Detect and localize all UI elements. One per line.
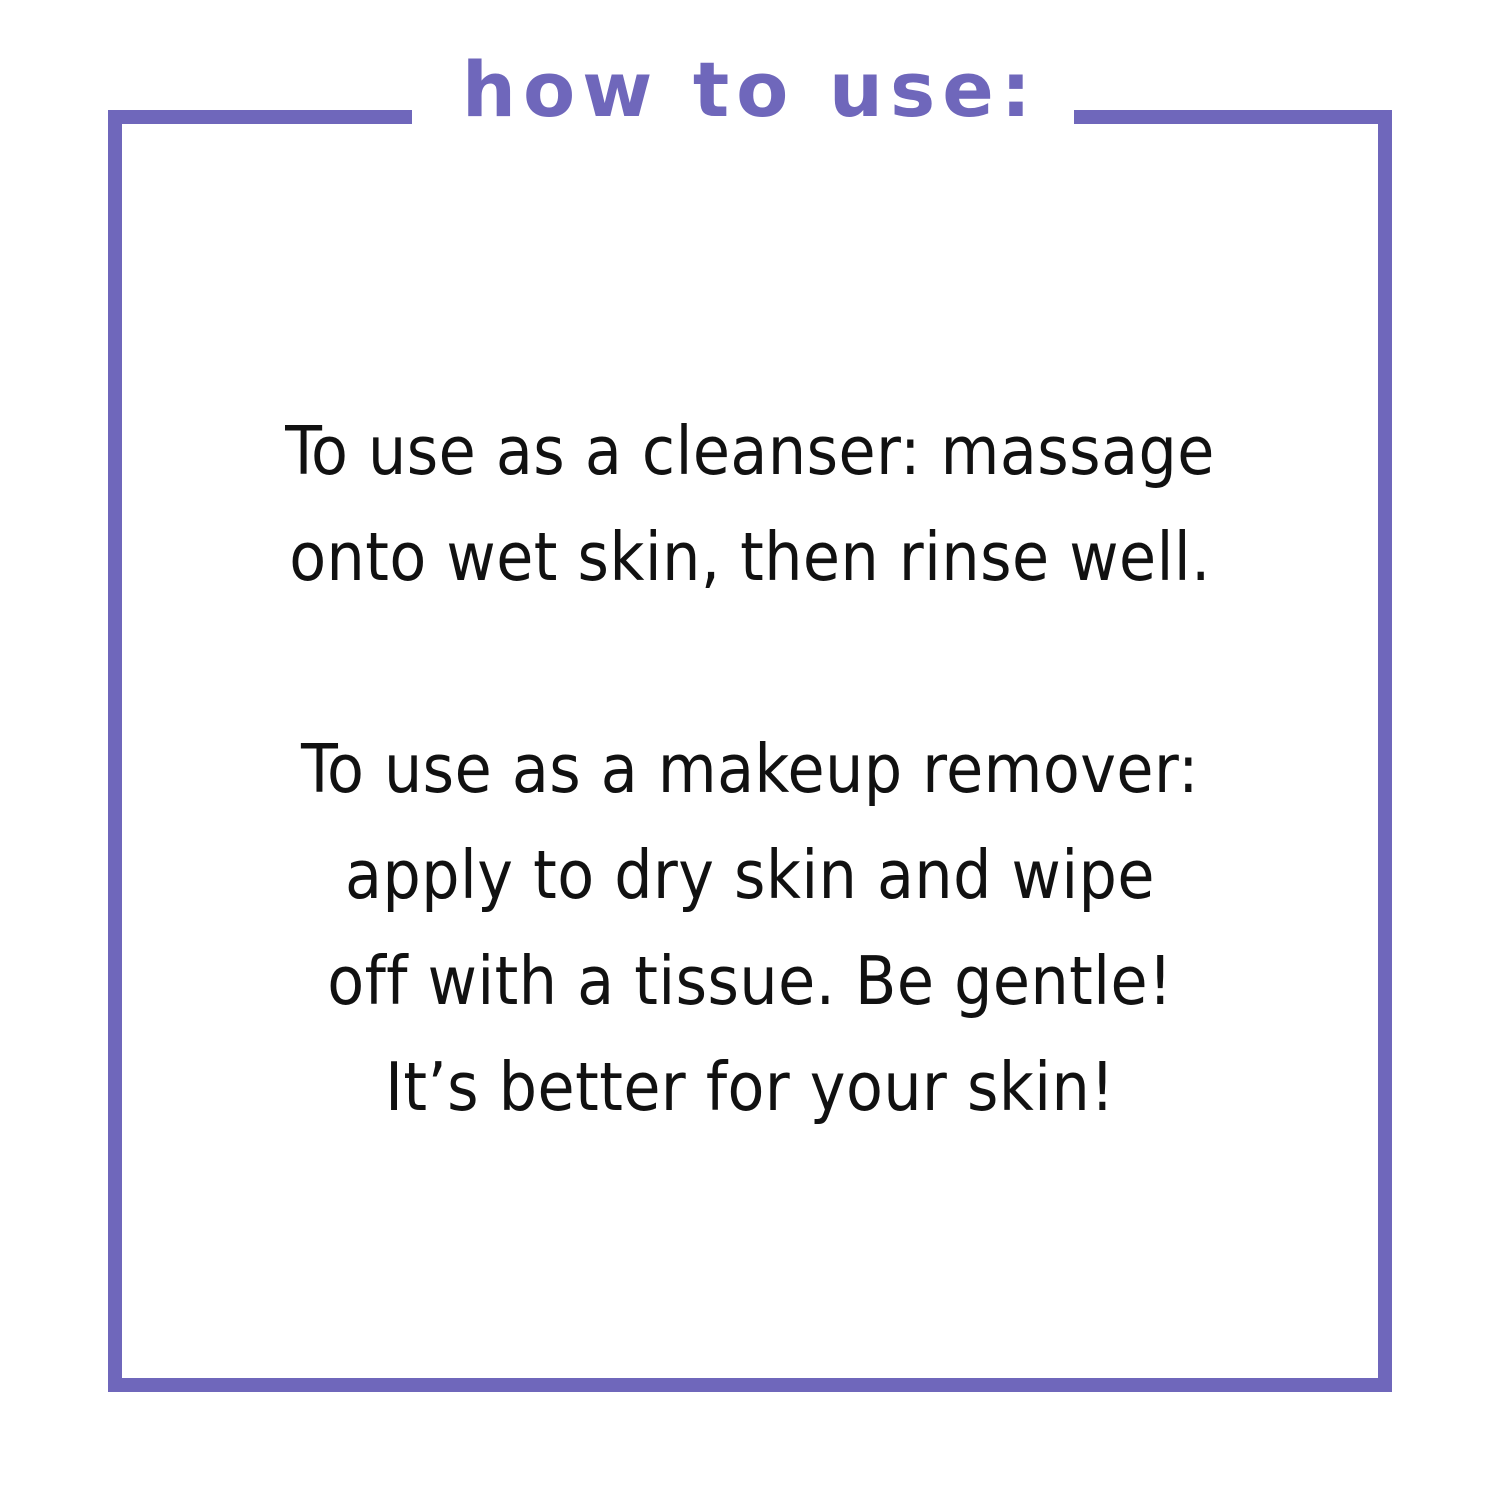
frame-right-rule (1378, 110, 1392, 1392)
instruction-line: apply to dry skin and wipe (180, 822, 1320, 928)
instruction-paragraph-cleanser: To use as a cleanser: massage onto wet s… (180, 398, 1320, 610)
instruction-line: It’s better for your skin! (180, 1034, 1320, 1140)
frame-bottom-rule (108, 1378, 1392, 1392)
page-title: how to use: (0, 52, 1500, 128)
instruction-line: onto wet skin, then rinse well. (180, 504, 1320, 610)
instruction-line: To use as a makeup remover: (180, 716, 1320, 822)
how-to-use-card: how to use: To use as a cleanser: massag… (0, 0, 1500, 1500)
instruction-line: off with a tissue. Be gentle! (180, 928, 1320, 1034)
frame-left-rule (108, 110, 122, 1392)
instructions-body: To use as a cleanser: massage onto wet s… (180, 398, 1320, 1140)
instruction-paragraph-makeup-remover: To use as a makeup remover: apply to dry… (180, 716, 1320, 1140)
instruction-line: To use as a cleanser: massage (180, 398, 1320, 504)
